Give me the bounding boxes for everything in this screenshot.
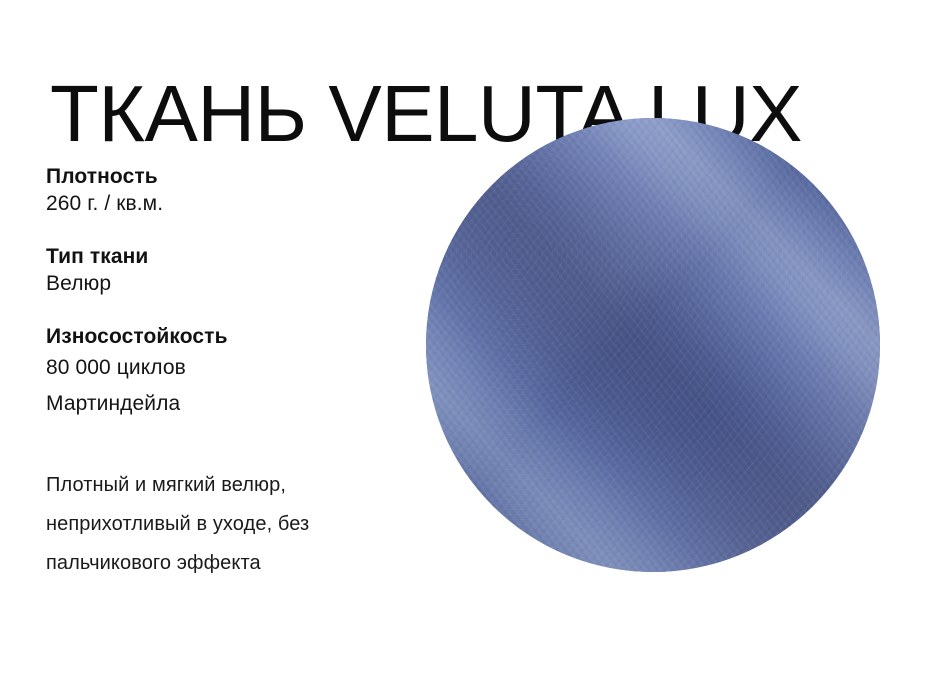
fabric-spec-card: ТКАНЬ VELUTA LUX Плотность 260 г. / кв.м… [0,0,934,700]
spec-item-fabric-type: Тип ткани Велюр [46,244,416,298]
description-line-2: неприхотливый в уходе, без [46,505,426,544]
spec-value-density: 260 г. / кв.м. [46,190,416,218]
description-text: Плотный и мягкий велюр, неприхотливый в … [46,466,426,583]
spec-label-durability: Износостойкость [46,324,416,350]
spec-label-density: Плотность [46,164,416,190]
spec-item-density: Плотность 260 г. / кв.м. [46,164,416,218]
spec-value-durability-standard: Мартиндейла [46,386,416,422]
spec-item-durability: Износостойкость 80 000 циклов Мартиндейл… [46,324,416,422]
spec-value-durability-cycles: 80 000 циклов [46,350,416,386]
swatch-nap-texture [426,118,880,572]
spec-value-fabric-type: Велюр [46,270,416,298]
description-line-1: Плотный и мягкий велюр, [46,466,426,505]
description-line-3: пальчикового эффекта [46,544,426,583]
spec-label-fabric-type: Тип ткани [46,244,416,270]
spec-list: Плотность 260 г. / кв.м. Тип ткани Велюр… [46,164,416,422]
fabric-swatch-circle [426,118,880,572]
